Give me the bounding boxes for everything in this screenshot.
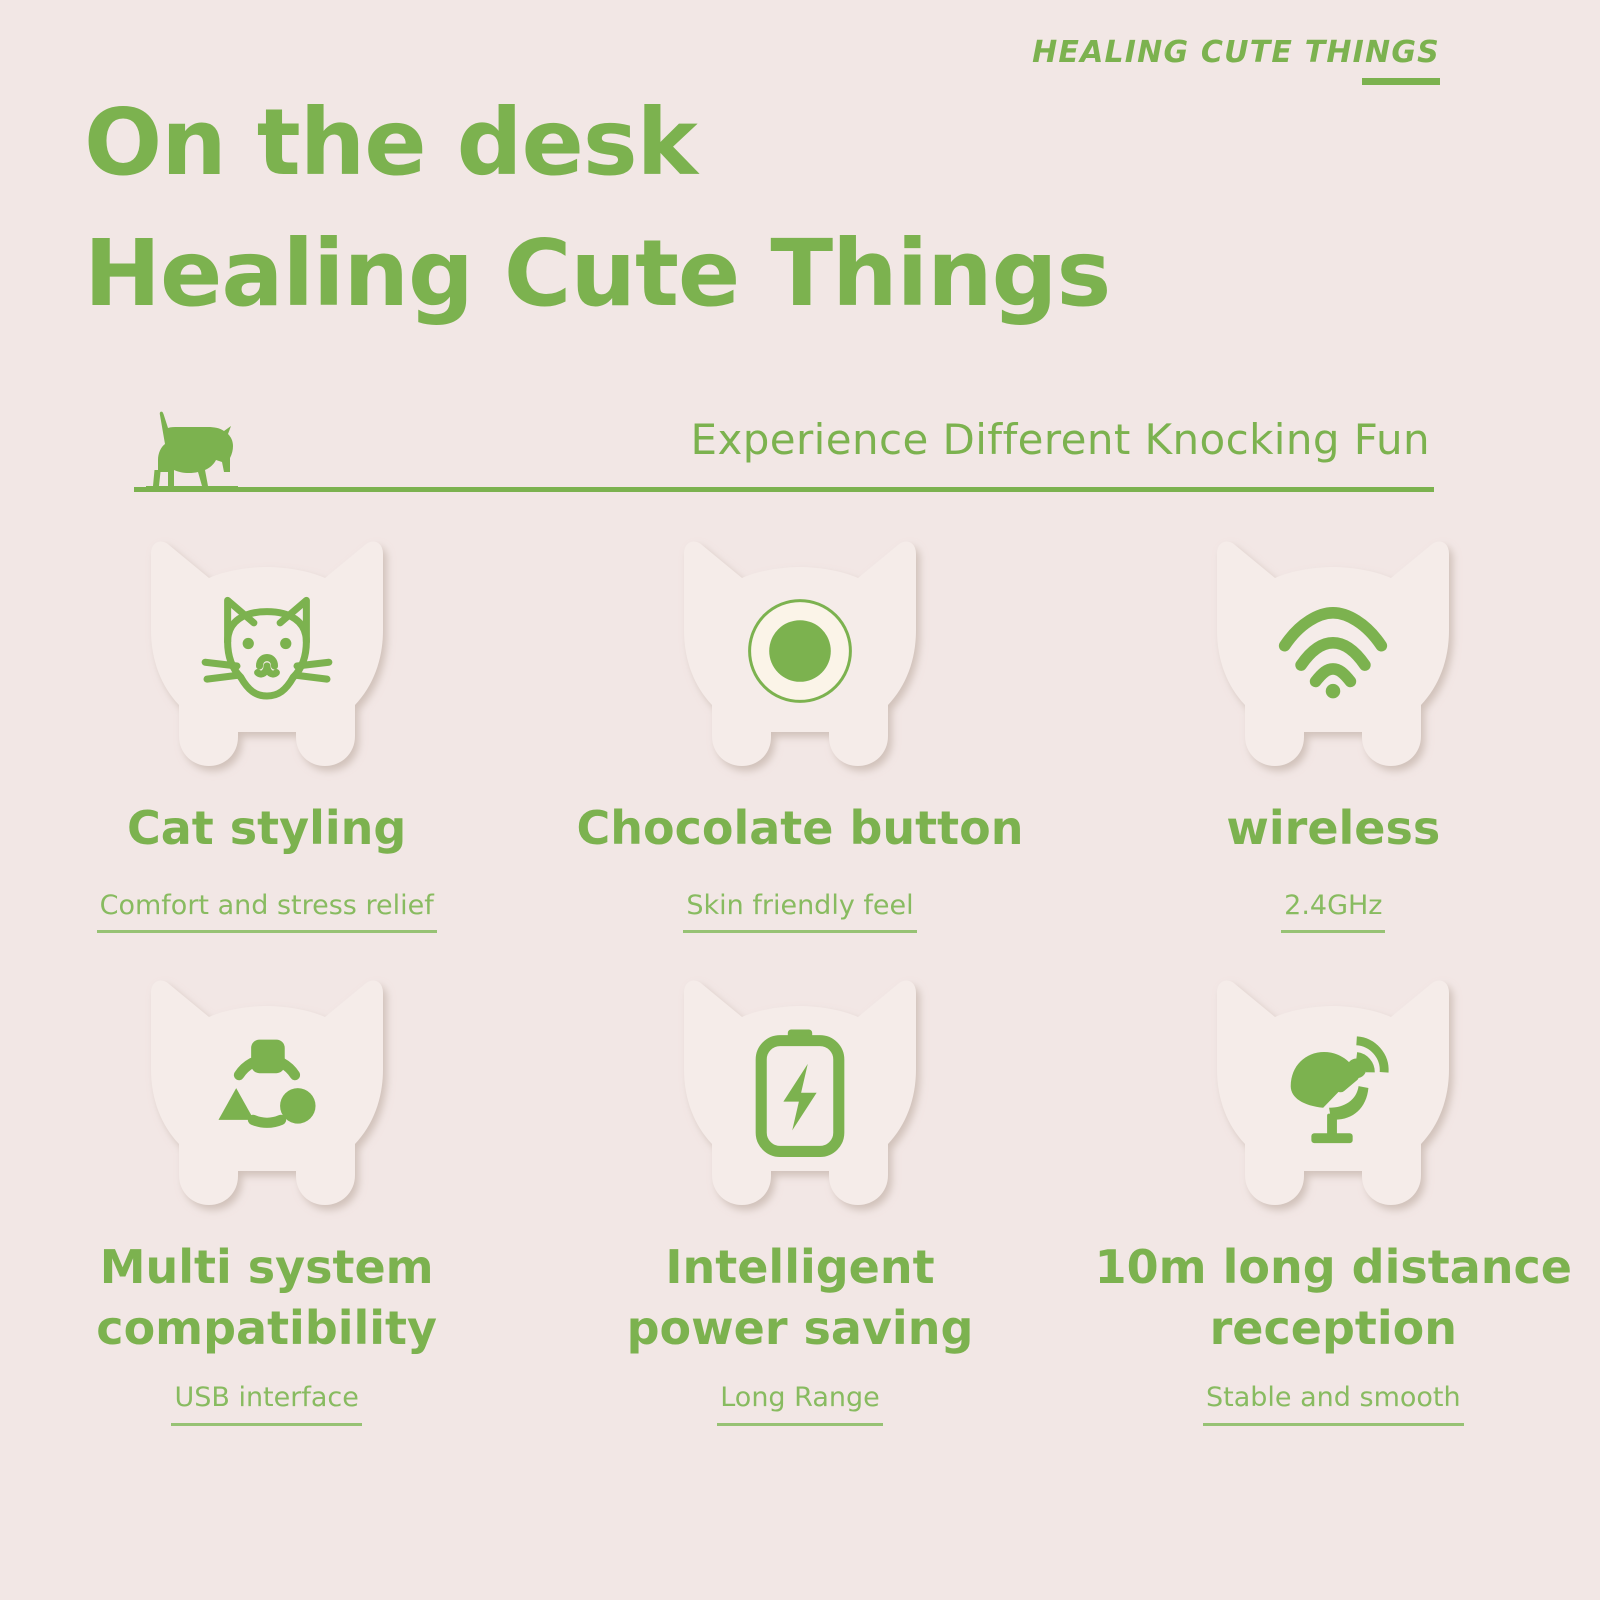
feature-card-chocolate-button[interactable]: Chocolate button Skin friendly feel — [533, 520, 1066, 933]
feature-title: Multi system compatibility — [96, 1237, 437, 1358]
page-title-line-1: On the desk — [84, 78, 1110, 209]
feature-card-wireless[interactable]: wireless 2.4GHz — [1067, 520, 1600, 933]
battery-charging-icon — [750, 1024, 850, 1157]
feature-subtitle-wrap: 2.4GHz — [1281, 889, 1385, 934]
cat-face-icon — [192, 576, 342, 726]
multi-system-icon — [211, 1034, 323, 1146]
walking-cat-icon — [140, 406, 244, 492]
feature-subtitle-rule — [717, 1423, 883, 1426]
feature-title: Chocolate button — [576, 798, 1023, 859]
subtitle-divider-rule — [134, 487, 1434, 492]
feature-subtitle: USB interface — [171, 1381, 361, 1423]
cat-body-plate — [123, 959, 411, 1221]
brand-underline-rule — [1362, 78, 1440, 85]
feature-subtitle-rule — [683, 930, 916, 933]
feature-subtitle: Stable and smooth — [1203, 1381, 1464, 1423]
satellite-dish-icon — [1274, 1031, 1392, 1149]
feature-title: wireless — [1226, 798, 1440, 859]
feature-title: Intelligent power saving — [627, 1237, 974, 1358]
wifi-icon — [1275, 603, 1391, 700]
feature-subtitle: Skin friendly feel — [683, 889, 916, 931]
feature-card-multi-system[interactable]: Multi system compatibility USB interface — [0, 959, 533, 1425]
cat-body-plate — [1189, 959, 1477, 1221]
cat-body-plate — [656, 520, 944, 782]
feature-title: 10m long distance reception — [1095, 1237, 1572, 1358]
cat-body-plate — [1189, 520, 1477, 782]
feature-title: Cat styling — [127, 798, 406, 859]
cat-body-plate — [123, 520, 411, 782]
feature-subtitle-wrap: Skin friendly feel — [683, 889, 916, 934]
page-title-line-2: Healing Cute Things — [84, 209, 1110, 340]
feature-subtitle: 2.4GHz — [1281, 889, 1385, 931]
feature-card-long-distance[interactable]: 10m long distance reception Stable and s… — [1067, 959, 1600, 1425]
feature-subtitle-rule — [1203, 1423, 1464, 1426]
brand-label: HEALING CUTE THINGS — [1032, 36, 1440, 69]
feature-subtitle-wrap: Stable and smooth — [1203, 1381, 1464, 1426]
feature-card-power-saving[interactable]: Intelligent power saving Long Range — [533, 959, 1066, 1425]
feature-subtitle-wrap: Comfort and stress relief — [97, 889, 437, 934]
subtitle-text: Experience Different Knocking Fun — [691, 415, 1430, 464]
cat-body-plate — [656, 959, 944, 1221]
page-title: On the desk Healing Cute Things — [84, 78, 1110, 339]
round-button-icon[interactable] — [744, 595, 856, 707]
feature-subtitle: Comfort and stress relief — [97, 889, 437, 931]
feature-subtitle: Long Range — [717, 1381, 883, 1423]
feature-row-1: Cat styling Comfort and stress relief — [0, 520, 1600, 933]
feature-subtitle-wrap: Long Range — [717, 1381, 883, 1426]
subtitle-band: Experience Different Knocking Fun — [134, 396, 1434, 492]
feature-subtitle-wrap: USB interface — [171, 1381, 361, 1426]
feature-subtitle-rule — [1281, 930, 1385, 933]
feature-subtitle-rule — [97, 930, 437, 933]
feature-card-cat-styling[interactable]: Cat styling Comfort and stress relief — [0, 520, 533, 933]
feature-grid: Cat styling Comfort and stress relief — [0, 520, 1600, 1426]
feature-row-2: Multi system compatibility USB interface — [0, 959, 1600, 1425]
feature-subtitle-rule — [171, 1423, 361, 1426]
